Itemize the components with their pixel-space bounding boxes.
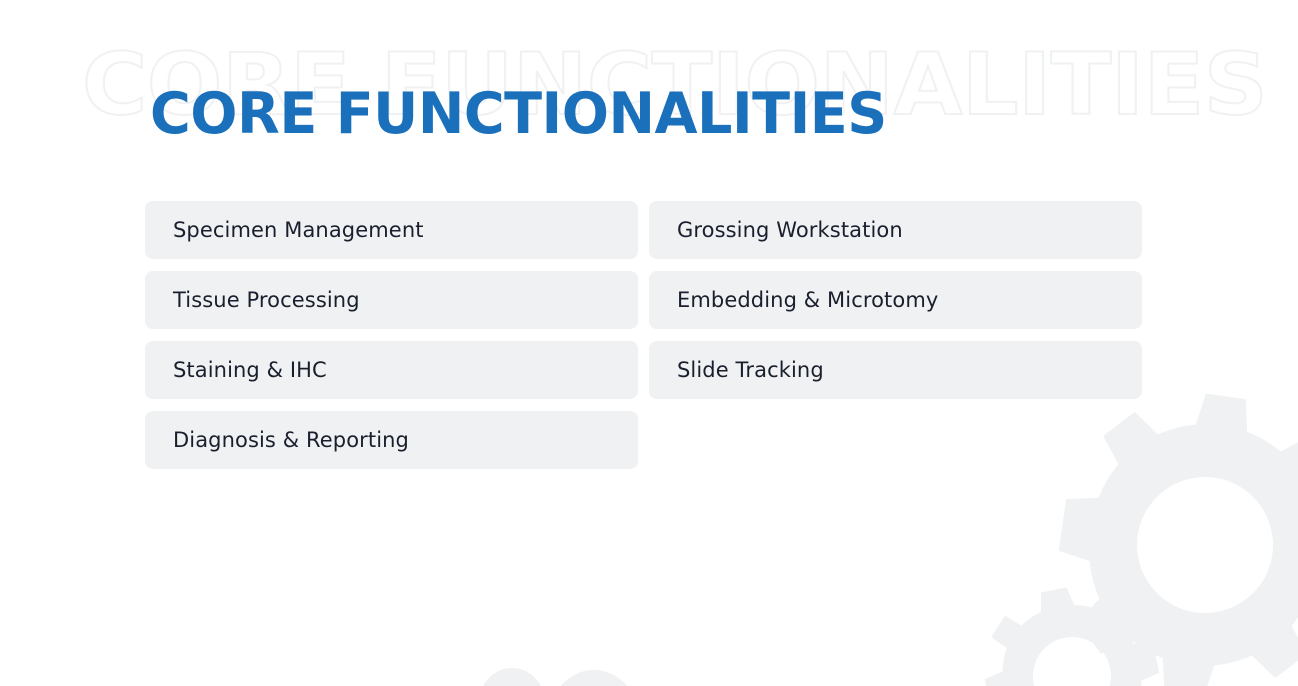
list-item[interactable]: Staining & IHC [145, 341, 638, 399]
list-item[interactable]: Tissue Processing [145, 271, 638, 329]
slide-canvas: CORE FUNCTIONALITIES CORE FUNCTIONALITIE… [0, 0, 1298, 686]
title-block: CORE FUNCTIONALITIES CORE FUNCTIONALITIE… [0, 0, 1298, 175]
decor-circle-left [480, 668, 544, 686]
list-item-label: Embedding & Microtomy [677, 288, 938, 312]
decor-circle-right [552, 670, 636, 686]
list-item-placeholder [649, 411, 1142, 469]
list-item-label: Grossing Workstation [677, 218, 903, 242]
gear-small-icon [970, 572, 1175, 686]
list-item[interactable]: Grossing Workstation [649, 201, 1142, 259]
list-item[interactable]: Embedding & Microtomy [649, 271, 1142, 329]
list-item-label: Diagnosis & Reporting [173, 428, 409, 452]
list-item-label: Slide Tracking [677, 358, 824, 382]
page-title: CORE FUNCTIONALITIES [150, 86, 887, 143]
functionality-list: Specimen Management Grossing Workstation… [145, 201, 1142, 469]
list-item-label: Tissue Processing [173, 288, 360, 312]
list-item-label: Specimen Management [173, 218, 424, 242]
list-item[interactable]: Specimen Management [145, 201, 638, 259]
list-item-label: Staining & IHC [173, 358, 327, 382]
list-item[interactable]: Slide Tracking [649, 341, 1142, 399]
list-item[interactable]: Diagnosis & Reporting [145, 411, 638, 469]
